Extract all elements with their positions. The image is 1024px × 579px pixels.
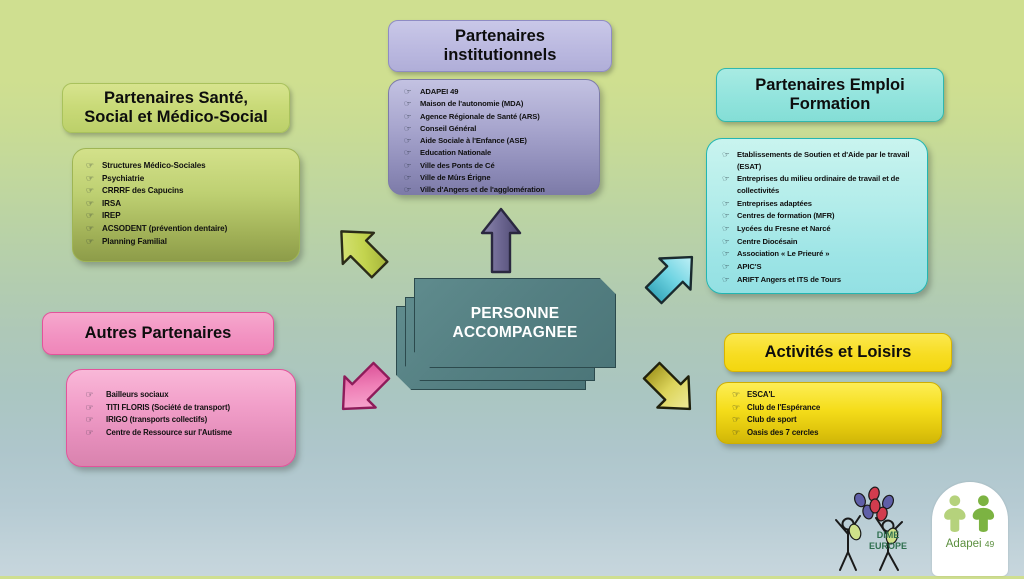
list-item: ☞Maison de l'autonomie (MDA): [405, 98, 591, 110]
pointing-hand-icon: ☞: [404, 123, 421, 135]
loisirs-item-list: ☞ESCA'L ☞Club de l'Espérance ☞Club de sp…: [733, 389, 933, 439]
list-item-label: Etablissements de Soutien et d'Aide par …: [737, 149, 917, 172]
list-item-label: Centres de formation (MFR): [737, 210, 917, 222]
list-item-label: TITI FLORIS (Société de transport): [106, 402, 287, 415]
dime-label-line1: DIME: [856, 530, 920, 541]
list-item: ☞Centres de formation (MFR): [723, 210, 917, 222]
pointing-hand-icon: ☞: [404, 147, 421, 159]
list-item-label: ADAPEI 49: [420, 86, 591, 98]
panel-title-autres: Autres Partenaires: [42, 312, 274, 355]
pointing-hand-icon: ☞: [86, 160, 103, 173]
list-item-label: Ville d'Angers et de l'agglomération: [420, 184, 591, 195]
autres-item-list: ☞Bailleurs sociaux ☞TITI FLORIS (Société…: [87, 389, 287, 439]
list-item-label: Ville des Ponts de Cé: [420, 160, 591, 172]
list-item: ☞ESCA'L: [733, 389, 933, 402]
pointing-hand-icon: ☞: [86, 427, 108, 440]
autres-title-line1: Autres Partenaires: [85, 324, 232, 343]
list-item: ☞Entreprises adaptées: [723, 198, 917, 210]
arrow-to-institutionnels: [478, 206, 524, 276]
list-item-label: Club de sport: [747, 414, 933, 427]
center-label-line2: ACCOMPAGNEE: [452, 323, 577, 342]
list-item-label: Entreprises du milieu ordinaire de trava…: [737, 173, 917, 196]
pointing-hand-icon: ☞: [86, 173, 103, 186]
list-item-label: Aide Sociale à l'Enfance (ASE): [420, 135, 591, 147]
arrow-to-loisirs: [628, 352, 708, 422]
pointing-hand-icon: ☞: [722, 173, 738, 185]
institutionnels-item-list: ☞ADAPEI 49 ☞Maison de l'autonomie (MDA) …: [405, 86, 591, 195]
list-item: ☞Structures Médico-Sociales: [87, 160, 291, 173]
sante-title-line2: Social et Médico-Social: [84, 108, 267, 127]
sante-title-line1: Partenaires Santé,: [84, 89, 267, 108]
list-item-label: Centre de Ressource sur l'Autisme: [106, 427, 287, 440]
panel-title-loisirs: Activités et Loisirs: [724, 333, 952, 372]
inst-title-line1: Partenaires: [444, 27, 557, 46]
pointing-hand-icon: ☞: [722, 149, 738, 161]
list-item: ☞Oasis des 7 cercles: [733, 427, 933, 440]
list-item: ☞Ville d'Angers et de l'agglomération: [405, 184, 591, 195]
list-item: ☞Centre de Ressource sur l'Autisme: [87, 427, 287, 440]
list-item: ☞IRSA: [87, 198, 291, 211]
pointing-hand-icon: ☞: [722, 210, 738, 222]
arrow-to-autres: [326, 352, 404, 422]
pointing-hand-icon: ☞: [722, 274, 738, 286]
list-item-label: ARIFT Angers et ITS de Tours: [737, 274, 917, 286]
pointing-hand-icon: ☞: [722, 261, 738, 273]
list-item-label: Structures Médico-Sociales: [102, 160, 291, 173]
center-card-front: PERSONNE ACCOMPAGNEE: [414, 278, 616, 368]
pointing-hand-icon: ☞: [404, 86, 421, 98]
logo-dime-europe: DIME EUROPE: [818, 480, 926, 574]
pointing-hand-icon: ☞: [86, 236, 103, 249]
pointing-hand-icon: ☞: [86, 198, 103, 211]
list-item: ☞TITI FLORIS (Société de transport): [87, 402, 287, 415]
panel-list-autres: ☞Bailleurs sociaux ☞TITI FLORIS (Société…: [66, 369, 296, 467]
list-item-label: Psychiatrie: [102, 173, 291, 186]
pointing-hand-icon: ☞: [86, 389, 108, 402]
emploi-title-line1: Partenaires Emploi: [755, 76, 904, 95]
panel-list-institutionnels: ☞ADAPEI 49 ☞Maison de l'autonomie (MDA) …: [388, 79, 600, 195]
list-item-label: APIC'S: [737, 261, 917, 273]
pointing-hand-icon: ☞: [732, 402, 748, 415]
list-item: ☞IRIGO (transports collectifs): [87, 414, 287, 427]
panel-list-emploi: ☞Etablissements de Soutien et d'Aide par…: [706, 138, 928, 294]
list-item-label: Lycées du Fresne et Narcé: [737, 223, 917, 235]
list-item-label: IRSA: [102, 198, 291, 211]
diagram-canvas: Partenaires Santé, Social et Médico-Soci…: [0, 0, 1024, 576]
list-item: ☞ARIFT Angers et ITS de Tours: [723, 274, 917, 286]
list-item-label: Entreprises adaptées: [737, 198, 917, 210]
list-item: ☞Agence Régionale de Santé (ARS): [405, 111, 591, 123]
list-item-label: Centre Diocésain: [737, 236, 917, 248]
list-item: ☞Ville des Ponts de Cé: [405, 160, 591, 172]
pointing-hand-icon: ☞: [404, 172, 421, 184]
emploi-title-line2: Formation: [755, 95, 904, 114]
list-item-label: Agence Régionale de Santé (ARS): [420, 111, 591, 123]
logo-adapei-49: Adapei 49: [932, 482, 1008, 576]
pointing-hand-icon: ☞: [732, 414, 748, 427]
list-item-label: Maison de l'autonomie (MDA): [420, 98, 591, 110]
list-item: ☞IREP: [87, 210, 291, 223]
pointing-hand-icon: ☞: [722, 236, 738, 248]
list-item: ☞Association « Le Prieuré »: [723, 248, 917, 260]
list-item: ☞Lycées du Fresne et Narcé: [723, 223, 917, 235]
list-item: ☞Education Nationale: [405, 147, 591, 159]
pointing-hand-icon: ☞: [404, 135, 421, 147]
pointing-hand-icon: ☞: [732, 427, 748, 440]
adapei-number: 49: [985, 539, 994, 549]
pointing-hand-icon: ☞: [86, 210, 103, 223]
list-item-label: Conseil Général: [420, 123, 591, 135]
center-label-line1: PERSONNE: [452, 304, 577, 323]
pointing-hand-icon: ☞: [404, 184, 421, 195]
sante-item-list: ☞Structures Médico-Sociales ☞Psychiatrie…: [87, 160, 291, 248]
arrow-to-emploi: [630, 244, 710, 314]
list-item-label: Oasis des 7 cercles: [747, 427, 933, 440]
pointing-hand-icon: ☞: [732, 389, 748, 402]
list-item: ☞Club de sport: [733, 414, 933, 427]
pointing-hand-icon: ☞: [722, 248, 738, 260]
list-item-label: Bailleurs sociaux: [106, 389, 287, 402]
dime-label-line2: EUROPE: [856, 541, 920, 552]
dime-europe-figures-icon: [818, 480, 926, 574]
center-node-personne-accompagnee: PERSONNE ACCOMPAGNEE: [396, 278, 622, 390]
list-item-label: CRRRF des Capucins: [102, 185, 291, 198]
list-item: ☞Centre Diocésain: [723, 236, 917, 248]
list-item: ☞Conseil Général: [405, 123, 591, 135]
list-item: ☞Etablissements de Soutien et d'Aide par…: [723, 149, 917, 172]
panel-title-emploi: Partenaires Emploi Formation: [716, 68, 944, 122]
dime-europe-label: DIME EUROPE: [856, 530, 920, 551]
list-item: ☞APIC'S: [723, 261, 917, 273]
list-item: ☞Psychiatrie: [87, 173, 291, 186]
pointing-hand-icon: ☞: [404, 160, 421, 172]
pointing-hand-icon: ☞: [722, 198, 738, 210]
list-item: ☞CRRRF des Capucins: [87, 185, 291, 198]
emploi-item-list: ☞Etablissements de Soutien et d'Aide par…: [723, 149, 917, 286]
list-item-label: Association « Le Prieuré »: [737, 248, 917, 260]
pointing-hand-icon: ☞: [86, 223, 103, 236]
list-item-label: ACSODENT (prévention dentaire): [102, 223, 291, 236]
list-item: ☞Club de l'Espérance: [733, 402, 933, 415]
list-item: ☞Bailleurs sociaux: [87, 389, 287, 402]
list-item-label: ESCA'L: [747, 389, 933, 402]
list-item: ☞Aide Sociale à l'Enfance (ASE): [405, 135, 591, 147]
panel-title-institutionnels: Partenaires institutionnels: [388, 20, 612, 72]
list-item-label: Education Nationale: [420, 147, 591, 159]
list-item-label: IREP: [102, 210, 291, 223]
inst-title-line2: institutionnels: [444, 46, 557, 65]
arrow-to-sante: [324, 218, 404, 290]
pointing-hand-icon: ☞: [86, 414, 108, 427]
adapei-label: Adapei 49: [932, 538, 1008, 550]
adapei-name: Adapei: [946, 538, 982, 550]
list-item-label: Planning Familial: [102, 236, 291, 249]
panel-list-sante: ☞Structures Médico-Sociales ☞Psychiatrie…: [72, 148, 300, 262]
panel-title-sante: Partenaires Santé, Social et Médico-Soci…: [62, 83, 290, 133]
adapei-people-icon: [932, 490, 1008, 540]
loisirs-title-line1: Activités et Loisirs: [765, 343, 912, 362]
pointing-hand-icon: ☞: [86, 402, 108, 415]
list-item-label: Club de l'Espérance: [747, 402, 933, 415]
list-item: ☞ADAPEI 49: [405, 86, 591, 98]
list-item: ☞Ville de Mûrs Érigne: [405, 172, 591, 184]
list-item-label: IRIGO (transports collectifs): [106, 414, 287, 427]
list-item: ☞Planning Familial: [87, 236, 291, 249]
list-item: ☞Entreprises du milieu ordinaire de trav…: [723, 173, 917, 196]
pointing-hand-icon: ☞: [86, 185, 103, 198]
pointing-hand-icon: ☞: [404, 111, 421, 123]
pointing-hand-icon: ☞: [722, 223, 738, 235]
pointing-hand-icon: ☞: [404, 98, 421, 110]
panel-list-loisirs: ☞ESCA'L ☞Club de l'Espérance ☞Club de sp…: [716, 382, 942, 444]
list-item-label: Ville de Mûrs Érigne: [420, 172, 591, 184]
list-item: ☞ACSODENT (prévention dentaire): [87, 223, 291, 236]
